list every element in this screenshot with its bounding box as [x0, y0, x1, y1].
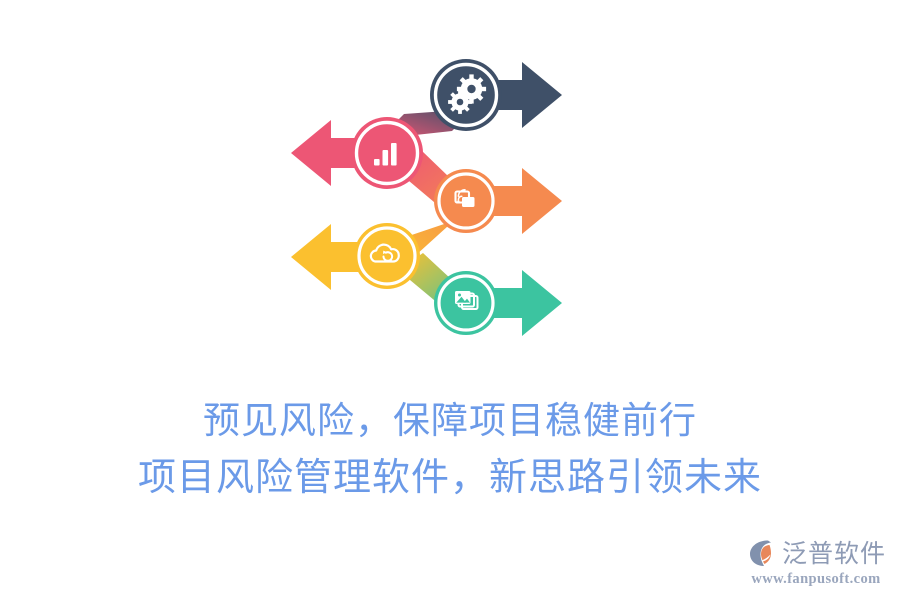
flow-item-bar-chart[interactable] — [291, 117, 423, 189]
brand-watermark: 泛普软件 www.fanpusoft.com — [746, 537, 886, 588]
brand-url: www.fanpusoft.com — [751, 571, 880, 588]
flow-item-gears[interactable] — [430, 59, 562, 131]
brand-name: 泛普软件 — [782, 541, 886, 566]
node-cloud-sync-outer — [354, 223, 420, 289]
flow-item-gallery[interactable] — [434, 270, 562, 336]
swoosh-logo-icon — [746, 537, 778, 569]
brand-top-row: 泛普软件 — [746, 537, 886, 569]
arrow-flow-infographic — [0, 0, 900, 600]
gallery-icon — [455, 291, 478, 309]
flow-item-screen-cast[interactable] — [434, 168, 562, 234]
flow-item-cloud-sync[interactable] — [291, 223, 420, 290]
